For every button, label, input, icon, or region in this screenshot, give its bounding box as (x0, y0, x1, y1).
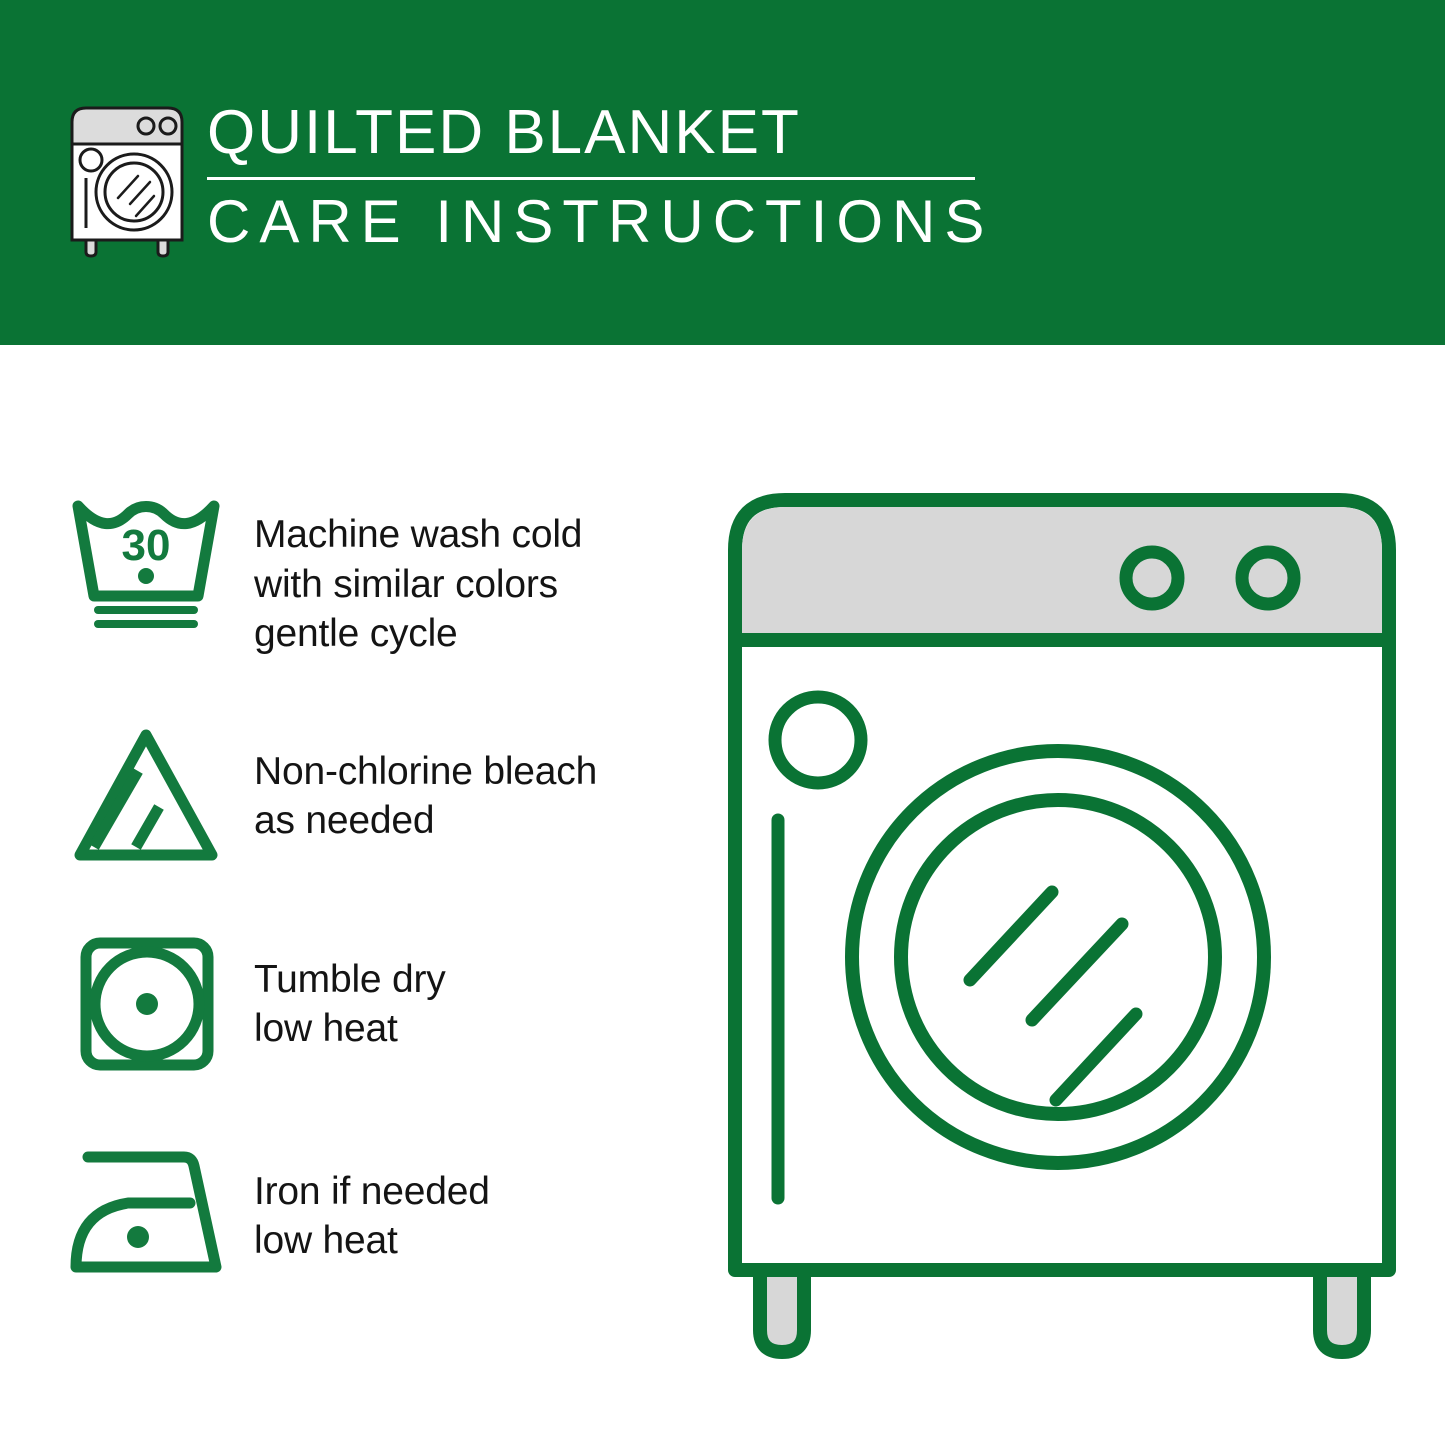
page-subtitle: CARE INSTRUCTIONS (207, 190, 997, 253)
wash-temperature-label: 30 (122, 521, 171, 570)
wash-tub-30-icon: 30 (66, 488, 234, 638)
list-item: Tumble dry low heat (66, 929, 706, 1079)
page-title: QUILTED BLANKET (207, 100, 997, 165)
instruction-text: Machine wash cold with similar colors ge… (254, 488, 582, 659)
list-item: Iron if needed low heat (66, 1139, 706, 1289)
list-item: 30 Machine wash cold with similar colors… (66, 488, 706, 659)
instruction-text: Tumble dry low heat (254, 929, 446, 1054)
instruction-list: 30 Machine wash cold with similar colors… (66, 488, 706, 1349)
title-divider (207, 177, 975, 180)
washing-machine-icon (60, 98, 200, 258)
iron-low-heat-icon (66, 1139, 234, 1289)
care-instructions-card: QUILTED BLANKET CARE INSTRUCTIONS 30 Mac… (0, 0, 1445, 1445)
instruction-text: Iron if needed low heat (254, 1139, 490, 1266)
header-band: QUILTED BLANKET CARE INSTRUCTIONS (0, 0, 1445, 345)
front-load-washing-machine-illustration (712, 480, 1412, 1370)
header-text-block: QUILTED BLANKET CARE INSTRUCTIONS (207, 100, 997, 253)
tumble-dry-low-icon (66, 929, 234, 1079)
non-chlorine-bleach-triangle-icon (66, 719, 234, 869)
list-item: Non-chlorine bleach as needed (66, 719, 706, 869)
instruction-text: Non-chlorine bleach as needed (254, 719, 597, 846)
